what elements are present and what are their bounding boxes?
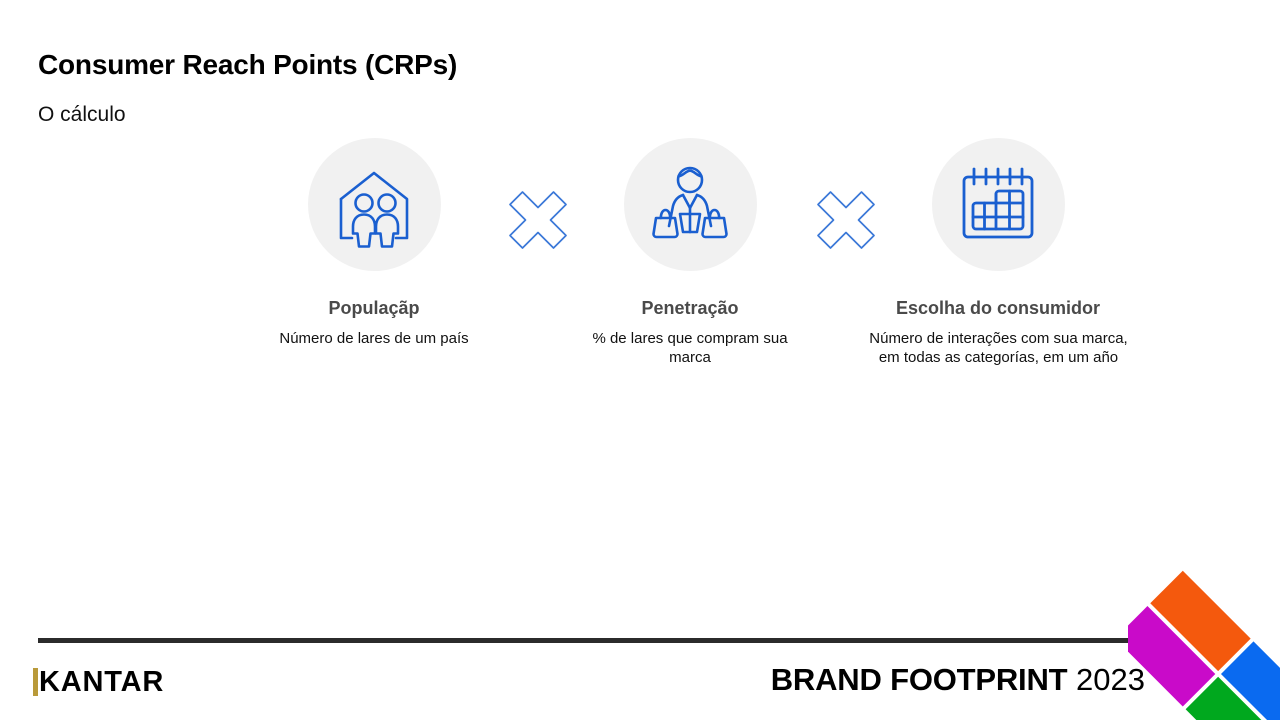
population-icon-circle [308, 138, 441, 271]
formula-column-consumer-choice: Escolha do consumidor Número de interaçõ… [864, 138, 1132, 368]
formula-column-penetration: Penetração % de lares que compram sua ma… [556, 138, 824, 368]
footer-divider [38, 638, 1145, 643]
column-label-population: Populaçãp [240, 297, 508, 320]
kantar-gold-bar-icon [33, 668, 38, 696]
column-label-consumer-choice: Escolha do consumidor [864, 297, 1132, 320]
crp-formula-row: Populaçãp Número de lares de um país [240, 138, 1200, 408]
column-label-penetration: Penetração [556, 297, 824, 320]
kantar-logo: KANTAR [33, 666, 164, 698]
house-with-people-icon [331, 162, 417, 248]
column-description-population: Número de lares de um país [240, 329, 508, 349]
shopper-with-bags-icon [647, 162, 733, 248]
kantar-wordmark: KANTAR [39, 668, 164, 697]
brand-footprint-footer: BRAND FOOTPRINT 2023 [771, 664, 1145, 695]
calendar-grid-icon [956, 163, 1040, 247]
column-description-consumer-choice: Número de interações com sua marca, em t… [861, 329, 1136, 369]
penetration-icon-circle [624, 138, 757, 271]
consumer-choice-icon-circle [932, 138, 1065, 271]
column-description-penetration: % de lares que compram sua marca [575, 329, 805, 369]
formula-column-population: Populaçãp Número de lares de um país [240, 138, 508, 348]
brand-footprint-label: BRAND FOOTPRINT [771, 662, 1068, 697]
kantar-corner-graphic [1128, 560, 1280, 720]
page-subtitle: O cálculo [38, 102, 126, 127]
page-title: Consumer Reach Points (CRPs) [38, 48, 457, 82]
